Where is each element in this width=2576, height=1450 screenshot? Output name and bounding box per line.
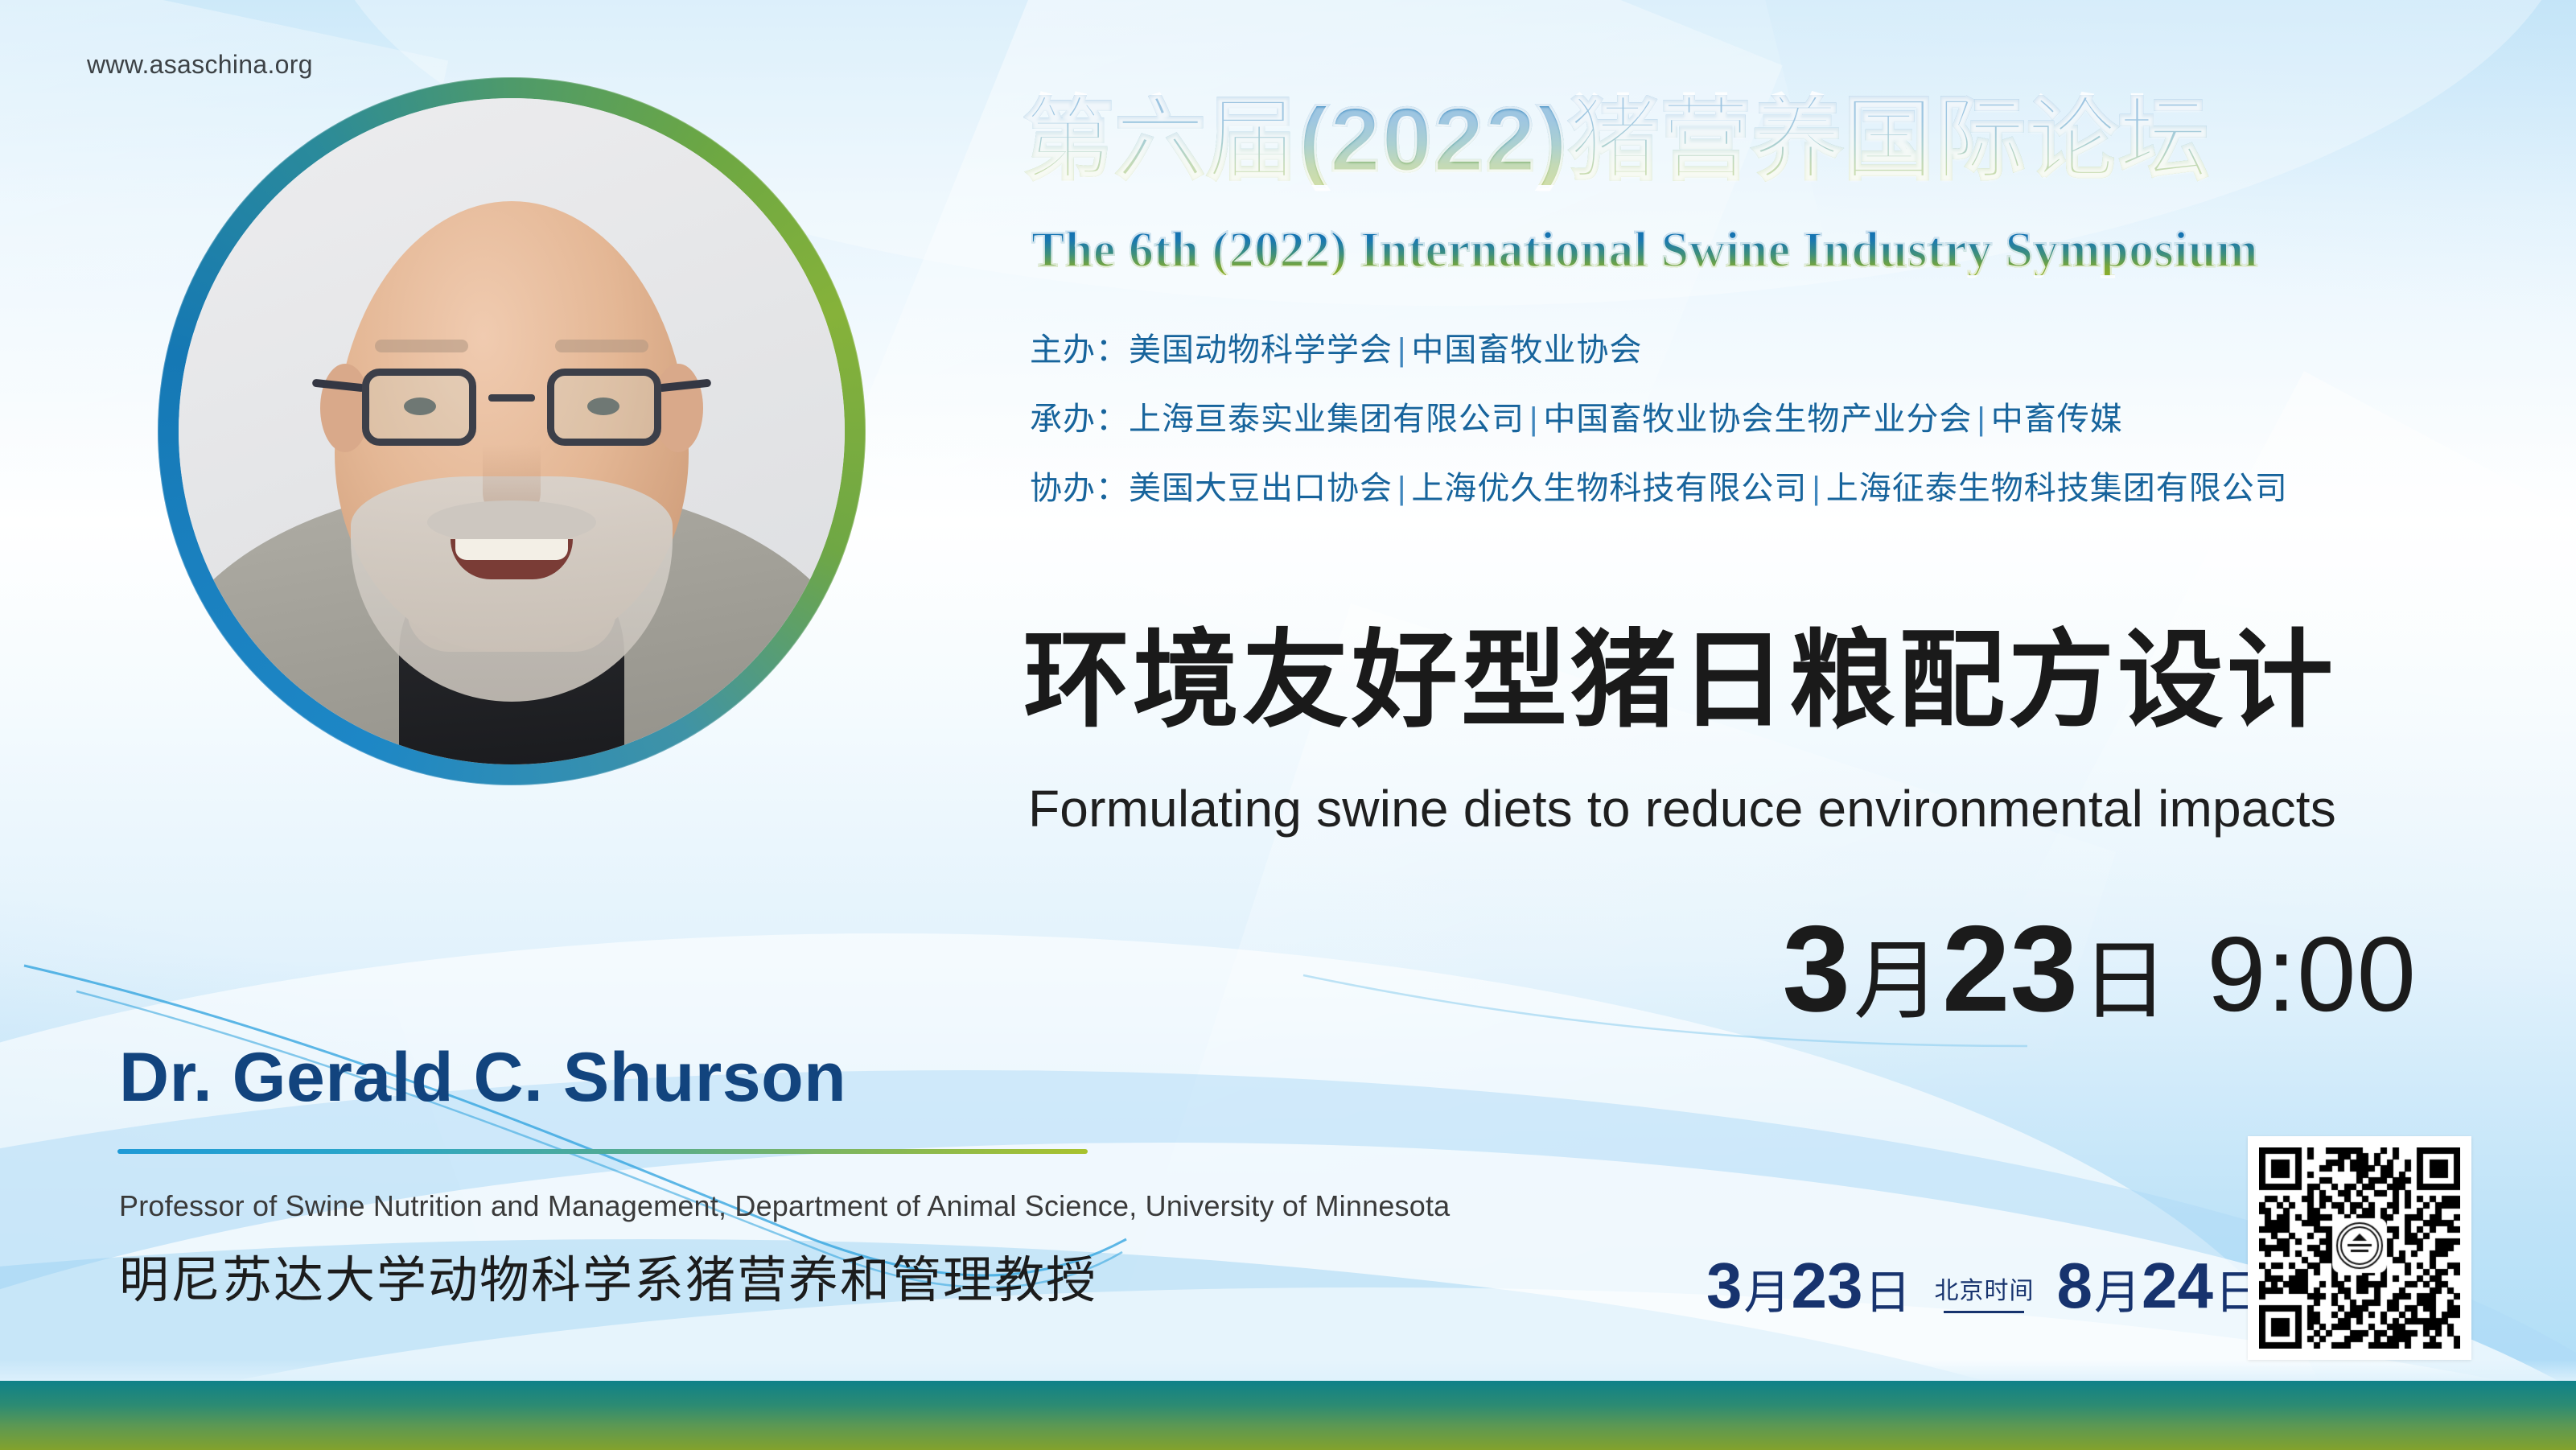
session-day-unit: 日 xyxy=(2081,937,2168,1024)
organizer-separator: | xyxy=(1393,471,1411,506)
portrait-glasses-lens xyxy=(362,369,476,446)
portrait-photo xyxy=(179,98,845,764)
organizer-separator: | xyxy=(1972,402,1990,437)
portrait-moustache xyxy=(427,500,596,544)
event-title-chinese: 第六届(2022)猪营养国际论坛 xyxy=(1023,95,2211,185)
organizer-row-host: 主办：美国动物科学学会|中国畜牧业协会 xyxy=(1030,323,1642,370)
portrait-glasses-bridge xyxy=(488,394,535,402)
organizer-entity: 上海优久生物科技有限公司 xyxy=(1411,471,1807,506)
organizer-separator: | xyxy=(1807,471,1825,506)
organizer-label: 主办： xyxy=(1030,332,1129,368)
speaker-role-english: Professor of Swine Nutrition and Managem… xyxy=(119,1189,1450,1223)
range-end-day: 24 xyxy=(2142,1254,2213,1318)
organizer-separator: | xyxy=(1393,332,1411,368)
session-datetime: 3 月 23 日 9:00 xyxy=(1782,908,2417,1030)
range-start-day-unit: 日 xyxy=(1864,1270,1911,1316)
organizer-entity: 美国动物科学学会 xyxy=(1129,332,1393,368)
organizer-separator: | xyxy=(1525,402,1543,437)
portrait-eyebrow xyxy=(555,340,648,352)
topic-title-chinese: 环境友好型猪日粮配方设计 xyxy=(1023,628,2336,734)
event-title-english: The 6th (2022) International Swine Indus… xyxy=(1031,225,2258,275)
range-start-month-unit: 月 xyxy=(1743,1270,1790,1316)
range-end-month: 8 xyxy=(2056,1254,2092,1318)
poster-canvas: www.asaschina.org 第六届(2022)猪营 xyxy=(0,0,2576,1450)
range-end-month-unit: 月 xyxy=(2094,1270,2141,1316)
session-day: 23 xyxy=(1942,908,2078,1030)
organizer-entity: 中国畜牧业协会 xyxy=(1411,332,1642,368)
portrait-glasses-lens xyxy=(547,369,661,446)
speaker-name: Dr. Gerald C. Shurson xyxy=(119,1038,846,1118)
organizer-row-supporter: 协办：美国大豆出口协会|上海优久生物科技有限公司|上海征泰生物科技集团有限公司 xyxy=(1030,462,2288,509)
bottom-gradient-bar xyxy=(0,1381,2576,1450)
qr-code[interactable] xyxy=(2248,1136,2471,1360)
speaker-portrait xyxy=(158,77,866,785)
speaker-divider xyxy=(117,1149,1088,1154)
speaker-role-chinese: 明尼苏达大学动物科学系猪营养和管理教授 xyxy=(119,1239,1097,1312)
organizer-entity: 上海亘泰实业集团有限公司 xyxy=(1129,402,1525,437)
bottom-bar-fade xyxy=(0,1360,2576,1381)
range-start-month: 3 xyxy=(1706,1254,1743,1318)
session-time: 9:00 xyxy=(2207,921,2417,1028)
session-month: 3 xyxy=(1782,908,1850,1030)
timezone-note: 北京时间 xyxy=(1934,1271,2034,1313)
organizer-entity: 美国大豆出口协会 xyxy=(1129,471,1393,506)
portrait-eyebrow xyxy=(375,340,468,352)
timezone-rule xyxy=(1944,1311,2024,1313)
range-start-day: 23 xyxy=(1791,1254,1862,1318)
organizer-entity: 中国畜牧业协会生物产业分会 xyxy=(1543,402,1972,437)
organizer-row-coorganizer: 承办：上海亘泰实业集团有限公司|中国畜牧业协会生物产业分会|中畜传媒 xyxy=(1030,393,2123,439)
event-date-range: 3 月 23 日 北京时间 8 月 24 日 xyxy=(1706,1254,2262,1318)
organizer-entity: 上海征泰生物科技集团有限公司 xyxy=(1826,471,2288,506)
organizer-label: 协办： xyxy=(1030,471,1129,506)
session-month-unit: 月 xyxy=(1854,937,1940,1024)
qr-code-image xyxy=(2259,1147,2460,1349)
topic-title-english: Formulating swine diets to reduce enviro… xyxy=(1028,779,2336,838)
organizer-entity: 中畜传媒 xyxy=(1991,402,2123,437)
organizer-label: 承办： xyxy=(1030,402,1129,437)
timezone-label: 北京时间 xyxy=(1934,1271,2034,1306)
